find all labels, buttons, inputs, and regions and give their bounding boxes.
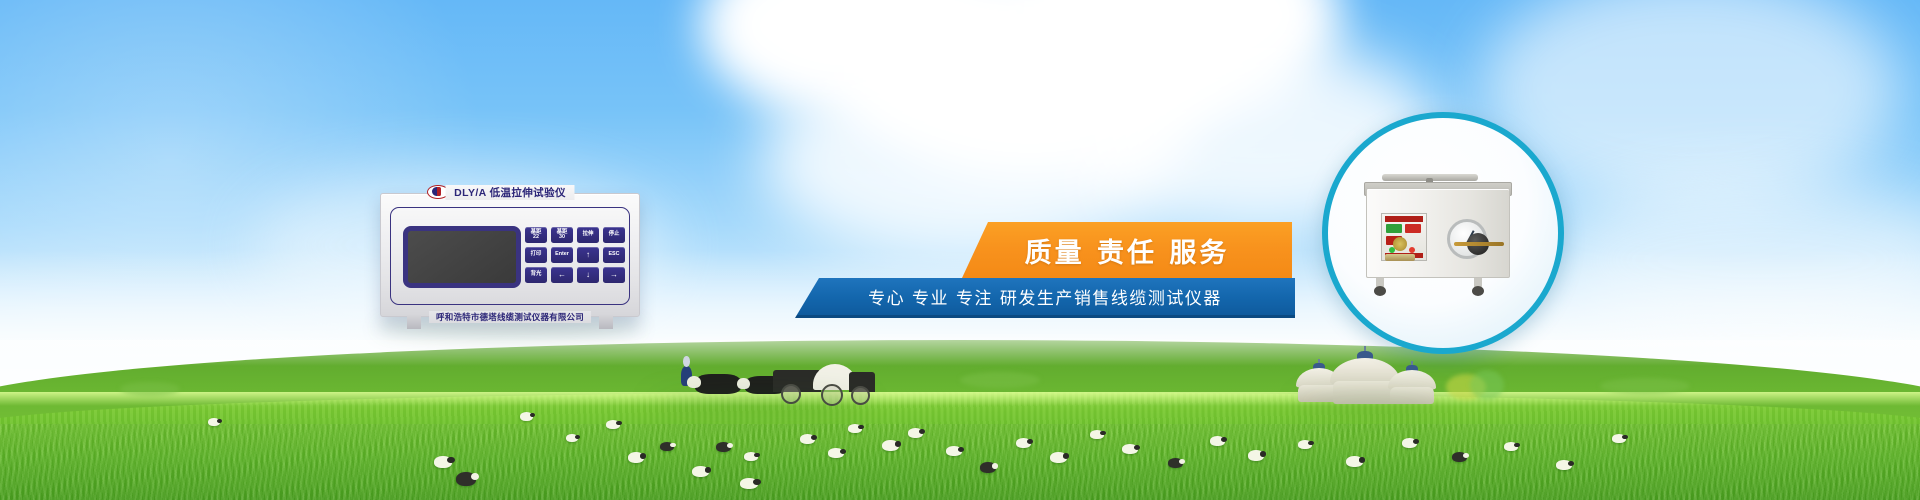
instrument-model-title: DLY/A 低温拉伸试验仪 [446, 185, 575, 200]
grass-field [0, 392, 1920, 500]
yurt-shadow [1296, 398, 1446, 410]
caster-wheel [1374, 286, 1386, 296]
caravan-shadow [650, 396, 870, 410]
sheep-figure [744, 452, 758, 461]
grass-texture [0, 424, 1920, 500]
sheep-figure [660, 442, 674, 451]
sheep-figure [434, 456, 452, 468]
key-label-top: 停止 [609, 232, 620, 237]
brand-emblem [1393, 237, 1407, 251]
arrow-up-icon: ↑ [586, 251, 590, 259]
key-enter[interactable]: Enter [551, 247, 573, 263]
key-label-top: 背光 [531, 272, 542, 277]
key-label-bottom: 30 [559, 235, 565, 240]
sheep-figure [1298, 440, 1312, 449]
sheep-figure [1168, 458, 1183, 468]
arrow-down-icon: ↓ [586, 271, 590, 279]
secondary-slogan-bar: 专心 专业 专注 研发生产销售线缆测试仪器 [795, 278, 1295, 318]
sheep-figure [716, 442, 731, 452]
autoclave-machine [1358, 176, 1510, 294]
panel-top-strip [1385, 216, 1423, 222]
sheep-figure [1346, 456, 1363, 467]
bush-shape [1470, 370, 1504, 400]
key-label-top: ESC [608, 252, 619, 257]
instrument-keypad[interactable]: 基距22 基距30 拉伸 停止 打印 Enter ↑ ESC 背光 ← ↓ → [525, 227, 625, 283]
sheep-figure [1090, 430, 1104, 439]
key-tingzhi[interactable]: 停止 [603, 227, 625, 243]
instrument-foot [407, 315, 421, 329]
nameplate [1385, 254, 1415, 261]
key-label-top: Enter [555, 252, 569, 257]
sheep-figure [1402, 438, 1417, 448]
lcd-surface [408, 231, 516, 283]
sheep-figure [828, 448, 844, 458]
ox-figure [695, 374, 741, 394]
key-jieju-22[interactable]: 基距22 [525, 227, 547, 243]
bush-shape [1600, 378, 1690, 394]
sheep-figure [848, 424, 862, 433]
key-arrow-down[interactable]: ↓ [577, 267, 599, 283]
key-arrow-right[interactable]: → [603, 267, 625, 283]
sheep-figure [606, 420, 620, 429]
key-arrow-left[interactable]: ← [551, 267, 573, 283]
bush-shape [960, 372, 1040, 388]
sheep-figure [908, 428, 923, 438]
valve-knob [1467, 233, 1489, 255]
instrument-company-name: 呼和浩特市德塔线缆测试仪器有限公司 [429, 311, 591, 323]
sheep-figure [628, 452, 644, 463]
display-readout [1405, 224, 1421, 233]
sheep-figure [1612, 434, 1626, 443]
logo-letter-d [432, 187, 441, 196]
sheep-figure [1452, 452, 1467, 462]
sheep-figure [1016, 438, 1031, 448]
bush-shape [120, 382, 180, 396]
sheep-figure [1248, 450, 1264, 461]
key-arrow-up[interactable]: ↑ [577, 247, 599, 263]
instrument-lcd-screen [403, 226, 521, 288]
cloud-shape [1550, 180, 1920, 340]
key-jieju-30[interactable]: 基距30 [551, 227, 573, 243]
sheep-figure [800, 434, 815, 444]
product-photo-circle[interactable] [1322, 112, 1564, 354]
key-label-bottom: 22 [533, 235, 539, 240]
sheep-figure [692, 466, 709, 477]
sheep-figure [740, 478, 758, 489]
dly-a-instrument: DLY/A 低温拉伸试验仪 基距22 基距30 拉伸 停止 打印 Enter ↑… [380, 193, 640, 317]
key-dayin[interactable]: 打印 [525, 247, 547, 263]
sheep-figure [566, 434, 578, 442]
key-lashen[interactable]: 拉伸 [577, 227, 599, 243]
sheep-figure [208, 418, 220, 426]
sheep-figure [1556, 460, 1572, 470]
key-label-top: 打印 [531, 252, 542, 257]
sheep-figure [1210, 436, 1225, 446]
secondary-slogan-text: 专心 专业 专注 研发生产销售线缆测试仪器 [868, 284, 1222, 309]
primary-slogan-bar: 质量 责任 服务 [962, 222, 1292, 278]
sheep-figure [980, 462, 996, 473]
instrument-foot [599, 315, 613, 329]
sheep-figure [1050, 452, 1067, 463]
key-beiguang[interactable]: 背光 [525, 267, 547, 283]
promo-banner: DLY/A 低温拉伸试验仪 基距22 基距30 拉伸 停止 打印 Enter ↑… [0, 0, 1920, 500]
sheep-figure [946, 446, 962, 456]
sheep-figure [1122, 444, 1138, 454]
arrow-right-icon: → [610, 271, 618, 279]
arrow-left-icon: ← [558, 271, 566, 279]
display-readout [1386, 224, 1402, 233]
primary-slogan-text: 质量 责任 服务 [1025, 231, 1230, 270]
sheep-figure [456, 472, 476, 486]
machine-caster [1472, 278, 1484, 296]
key-esc[interactable]: ESC [603, 247, 625, 263]
machine-body [1366, 188, 1510, 278]
sheep-figure [1504, 442, 1518, 451]
key-label-top: 拉伸 [583, 232, 594, 237]
sheep-figure [882, 440, 899, 451]
caster-wheel [1472, 286, 1484, 296]
machine-caster [1374, 278, 1386, 296]
sheep-figure [520, 412, 533, 421]
machine-lid-handle [1382, 174, 1478, 181]
